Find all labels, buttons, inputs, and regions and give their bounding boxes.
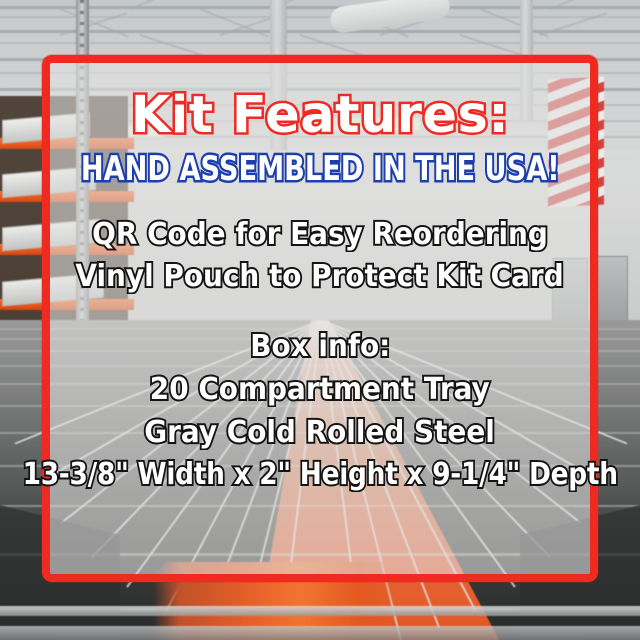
- box-info-line: 20 Compartment Tray: [150, 372, 490, 409]
- product-feature-image: Kit Features: HAND ASSEMBLED IN THE USA!…: [0, 0, 640, 640]
- content-overlay-panel: Kit Features: HAND ASSEMBLED IN THE USA!…: [42, 55, 598, 582]
- box-info-heading: Box info:: [250, 329, 390, 366]
- feature-item: Vinyl Pouch to Protect Kit Card: [76, 259, 564, 296]
- feature-list: QR Code for Easy Reordering Vinyl Pouch …: [57, 217, 582, 295]
- box-dimensions: 13-3/8" Width x 2" Height x 9-1/4" Depth: [22, 457, 617, 494]
- box-info-section: Box info: 20 Compartment Tray Gray Cold …: [0, 329, 640, 493]
- page-title: Kit Features:: [131, 89, 510, 143]
- box-info-line: Gray Cold Rolled Steel: [145, 415, 496, 452]
- feature-item: QR Code for Easy Reordering: [92, 217, 548, 254]
- subheadline: HAND ASSEMBLED IN THE USA!: [81, 152, 560, 188]
